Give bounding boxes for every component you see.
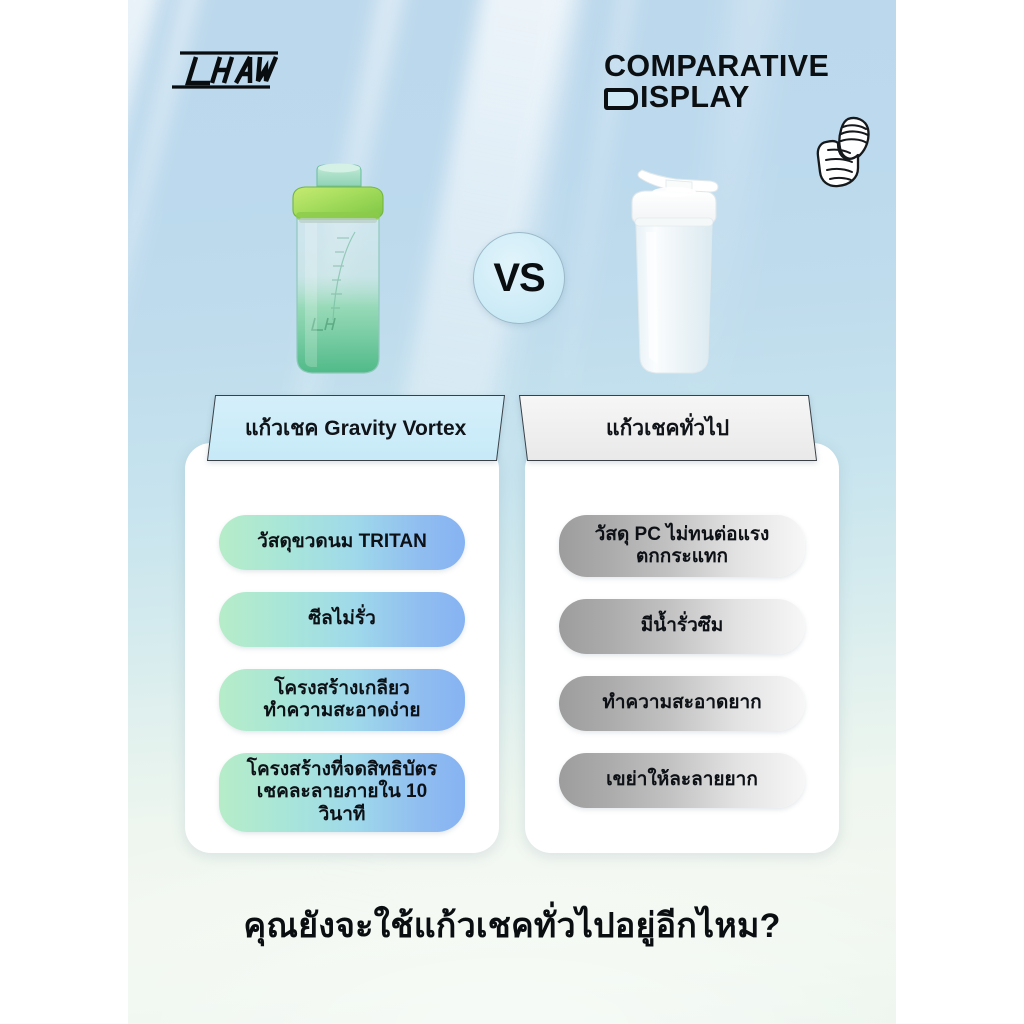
- comparison-card-gravity-vortex: แก้วเชค Gravity Vortex วัสดุขวดนม TRITAN…: [185, 443, 499, 853]
- card-tab-gravity-vortex: แก้วเชค Gravity Vortex: [207, 395, 505, 461]
- feature-text: โครงสร้างเกลียวทำความสะอาดง่าย: [263, 678, 420, 723]
- card-tab-label: แก้วเชค Gravity Vortex: [245, 412, 466, 445]
- feature-list-gravity-vortex: วัสดุขวดนม TRITAN ซีลไม่รั่ว โครงสร้างเก…: [185, 515, 499, 832]
- poster-canvas: COMPARATIVE ISPLAY: [128, 0, 896, 1024]
- poster-root: COMPARATIVE ISPLAY: [0, 0, 1024, 1024]
- feature-pill: ทำความสะอาดยาก: [559, 676, 805, 731]
- feature-text: มีน้ำรั่วซึม: [641, 615, 723, 637]
- card-tab-ordinary-shaker: แก้วเชคทั่วไป: [519, 395, 817, 461]
- feature-pill: วัสดุ PC ไม่ทนต่อแรงตกกระแทก: [559, 515, 805, 577]
- feature-text: เขย่าให้ละลายยาก: [606, 769, 758, 791]
- feature-pill: เขย่าให้ละลายยาก: [559, 753, 805, 808]
- feature-text: โครงสร้างที่จดสิทธิบัตรเชคละลายภายใน 10 …: [233, 759, 451, 826]
- feature-list-ordinary-shaker: วัสดุ PC ไม่ทนต่อแรงตกกระแทก มีน้ำรั่วซึ…: [525, 515, 839, 808]
- stylized-d-icon: [604, 88, 638, 110]
- feature-pill: โครงสร้างที่จดสิทธิบัตรเชคละลายภายใน 10 …: [219, 753, 465, 832]
- feature-text: ทำความสะอาดยาก: [602, 692, 761, 714]
- feature-pill: มีน้ำรั่วซึม: [559, 599, 805, 654]
- feature-pill: ซีลไม่รั่ว: [219, 592, 465, 647]
- product-image-gravity-vortex: [283, 160, 393, 380]
- versus-label: VS: [493, 256, 544, 301]
- hand-holding-shaker-icon: [808, 112, 880, 192]
- brand-logo: [166, 48, 286, 92]
- card-tab-label: แก้วเชคทั่วไป: [606, 412, 729, 445]
- page-title-line2: ISPLAY: [640, 83, 750, 112]
- feature-text: วัสดุขวดนม TRITAN: [257, 531, 427, 553]
- page-title: COMPARATIVE ISPLAY: [604, 52, 829, 112]
- versus-badge: VS: [473, 232, 565, 324]
- feature-text: ซีลไม่รั่ว: [308, 608, 376, 630]
- feature-pill: วัสดุขวดนม TRITAN: [219, 515, 465, 570]
- footer-headline: คุณยังจะใช้แก้วเชคทั่วไปอยู่อีกไหม?: [128, 898, 896, 952]
- comparison-card-ordinary-shaker: แก้วเชคทั่วไป วัสดุ PC ไม่ทนต่อแรงตกกระแ…: [525, 443, 839, 853]
- product-image-ordinary-shaker: [618, 162, 728, 380]
- page-title-line1: COMPARATIVE: [604, 52, 829, 81]
- feature-text: วัสดุ PC ไม่ทนต่อแรงตกกระแทก: [595, 524, 770, 569]
- feature-pill: โครงสร้างเกลียวทำความสะอาดง่าย: [219, 669, 465, 731]
